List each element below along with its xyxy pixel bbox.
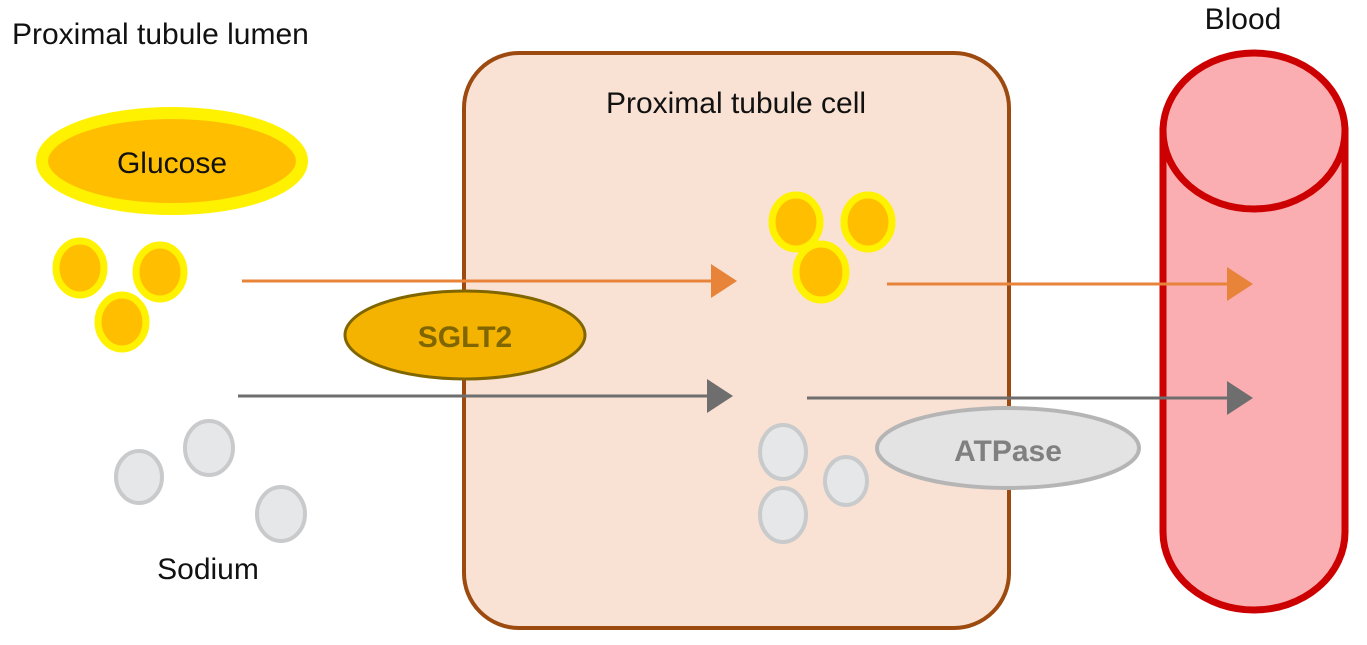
blood-label: Blood <box>1205 3 1282 36</box>
glucose-pill: Glucose <box>42 113 302 209</box>
glucose-pill-label: Glucose <box>117 147 227 180</box>
sglt2-transporter: SGLT2 <box>345 291 585 379</box>
sodium-molecule <box>185 421 233 475</box>
glucose-molecules-lumen <box>56 241 184 349</box>
sodium-molecule <box>760 425 806 479</box>
glucose-molecule <box>136 245 184 299</box>
sodium-molecule <box>825 457 867 505</box>
sodium-molecule <box>257 487 305 541</box>
cell-label: Proximal tubule cell <box>606 87 866 120</box>
sglt2-transport-diagram: Glucose SGLT2 ATPase Proximal tubule lum… <box>0 0 1367 645</box>
blood-vessel-top-cap <box>1163 53 1345 209</box>
atpase-label: ATPase <box>954 435 1062 468</box>
glucose-molecule <box>772 195 820 249</box>
glucose-molecule <box>98 295 146 349</box>
glucose-molecule <box>56 241 104 295</box>
sodium-molecule <box>116 451 162 503</box>
glucose-molecule <box>796 244 846 300</box>
sodium-molecules-lumen <box>116 421 305 541</box>
lumen-label: Proximal tubule lumen <box>12 18 309 51</box>
sodium-molecule <box>760 488 806 542</box>
sglt2-label: SGLT2 <box>418 321 512 354</box>
glucose-molecule <box>844 195 892 249</box>
sodium-label: Sodium <box>157 553 259 586</box>
diagram-canvas: Glucose SGLT2 ATPase Proximal tubule lum… <box>0 0 1367 645</box>
atpase-pump: ATPase <box>877 408 1139 488</box>
blood-vessel <box>1163 53 1345 610</box>
